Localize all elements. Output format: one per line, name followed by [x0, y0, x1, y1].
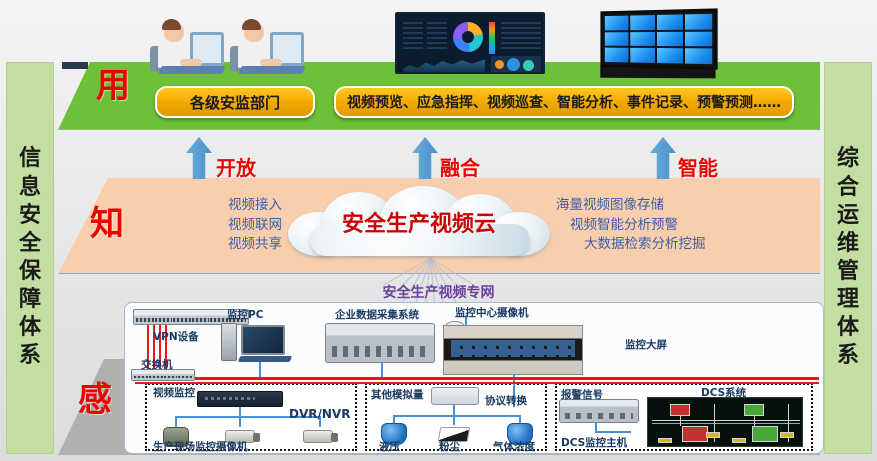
cloud-left-capabilities: 视频接入 视频联网 视频共享 [150, 196, 282, 255]
pillar-left-c1: 信 [19, 145, 41, 173]
pc-tower-icon [221, 323, 237, 361]
arm-icon [180, 59, 202, 66]
cloud-left-line-1: 视频接入 [150, 196, 282, 216]
layer-label-know: 知 [90, 196, 124, 245]
video-cloud-shape: 安全生产视频云 [288, 186, 550, 258]
label-sensor-hydraulic: 液压 [379, 439, 400, 454]
keyboard-icon [238, 356, 292, 362]
label-analog-group: 其他模拟量 [371, 387, 424, 402]
pillar-left-c4: 全 [19, 230, 41, 258]
label-vpn-device: VPN设备 [153, 329, 199, 344]
cloud-title: 安全生产视频云 [288, 206, 550, 238]
dcs-scada-image [647, 397, 803, 447]
control-room-image [443, 325, 583, 375]
pillar-information-security: 信 息 安 全 保 障 体 系 [6, 62, 54, 454]
label-switch: 交换机 [141, 357, 173, 372]
cloud-right-capabilities: 海量视频图像存储 视频智能分析预警 大数据检索分析挖掘 [556, 196, 756, 255]
donut-chart-icon [453, 22, 483, 52]
desk-icon [239, 66, 306, 74]
label-big-screen: 监控大屏 [625, 337, 667, 352]
desk-icon [159, 66, 226, 74]
cloud-right-line-2: 视频智能分析预警 [556, 216, 756, 236]
pillar-right-c7: 体 [837, 314, 859, 342]
pillar-right-c2: 合 [837, 174, 859, 202]
cloud-left-line-2: 视频联网 [150, 216, 282, 236]
dept-pill[interactable]: 各级安监部门 [155, 86, 315, 118]
hair-icon [162, 19, 181, 30]
pillar-left-c6: 障 [19, 286, 41, 314]
private-network-label: 安全生产视频专网 [0, 282, 877, 302]
pillar-left-c8: 系 [19, 342, 41, 370]
pillar-left-c5: 保 [19, 258, 41, 286]
dcs-host-icon [559, 399, 639, 423]
operators-illustration [150, 6, 310, 80]
infrastructure-panel: VPN设备 交换机 监控PC 企业数据采集系统 监控中心摄像机 监控大屏 视频监… [124, 302, 824, 454]
layer-label-use: 用 [96, 58, 130, 107]
pillar-right-c5: 管 [837, 258, 859, 286]
operator-1 [150, 6, 230, 80]
label-protocol-convert: 协议转换 [485, 393, 527, 408]
arrow-converge-icon [412, 137, 438, 179]
protocol-converter-icon [431, 387, 479, 405]
hair-icon [242, 19, 261, 30]
bullet-camera-icon-2 [303, 430, 333, 443]
arrow-label-smart: 智能 [678, 152, 718, 181]
label-video-group: 视频监控 [153, 385, 195, 400]
pillar-right-c6: 理 [837, 286, 859, 314]
label-dcs-system: DCS系统 [701, 385, 746, 400]
operator-2 [230, 6, 310, 80]
cloud-right-line-3: 大数据检索分析挖掘 [556, 235, 756, 255]
arrow-label-open: 开放 [216, 152, 256, 181]
pillar-right-c3: 运 [837, 202, 859, 230]
arm-icon [260, 59, 282, 66]
label-dvr-nvr: DVR/NVR [289, 407, 350, 421]
pillar-operations-management: 综 合 运 维 管 理 体 系 [824, 62, 872, 454]
architecture-diagram: 用 知 感 各级安监部门 视频预览、应急指挥、视频巡查、智能分析、事件记录、预警… [0, 0, 877, 461]
label-monitor-pc: 监控PC [227, 307, 263, 322]
pillar-left-c2: 息 [19, 174, 41, 202]
label-dcs-host: DCS监控主机 [561, 435, 627, 450]
label-alarm-group: 报警信号 [561, 387, 603, 402]
pc-screen-icon [241, 325, 285, 355]
pillar-right-c4: 维 [837, 230, 859, 258]
pillar-left-c7: 体 [19, 314, 41, 342]
color-scale-icon [489, 22, 495, 54]
video-wall-image [600, 8, 717, 69]
label-sensor-gas: 气体浓度 [493, 439, 535, 454]
pillar-right-c1: 综 [837, 145, 859, 173]
data-collector-icon [325, 323, 435, 363]
label-sensor-dust: 粉尘 [439, 439, 460, 454]
cloud-right-line-1: 海量视频图像存储 [556, 196, 756, 216]
area-chart-icon [403, 56, 485, 73]
dashboard-stand [62, 62, 88, 69]
layer-label-sense: 感 [78, 372, 112, 421]
function-pill[interactable]: 视频预览、应急指挥、视频巡查、智能分析、事件记录、预警预测…… [334, 86, 794, 118]
red-bus-line-2 [135, 382, 819, 384]
cloud-left-line-3: 视频共享 [150, 235, 282, 255]
label-site-cameras: 生产现场监控摄像机 [153, 439, 248, 454]
red-bus-line-1 [135, 377, 819, 380]
pillar-right-c8: 系 [837, 342, 859, 370]
label-data-collect: 企业数据采集系统 [335, 307, 419, 322]
arrow-smart-icon [650, 137, 676, 179]
pillar-left-c3: 安 [19, 202, 41, 230]
arrow-label-converge: 融合 [440, 152, 480, 181]
analytics-dashboard-image [395, 12, 545, 74]
dvr-nvr-icon [197, 391, 283, 407]
label-center-camera: 监控中心摄像机 [455, 305, 529, 320]
arrow-open-icon [186, 137, 212, 179]
